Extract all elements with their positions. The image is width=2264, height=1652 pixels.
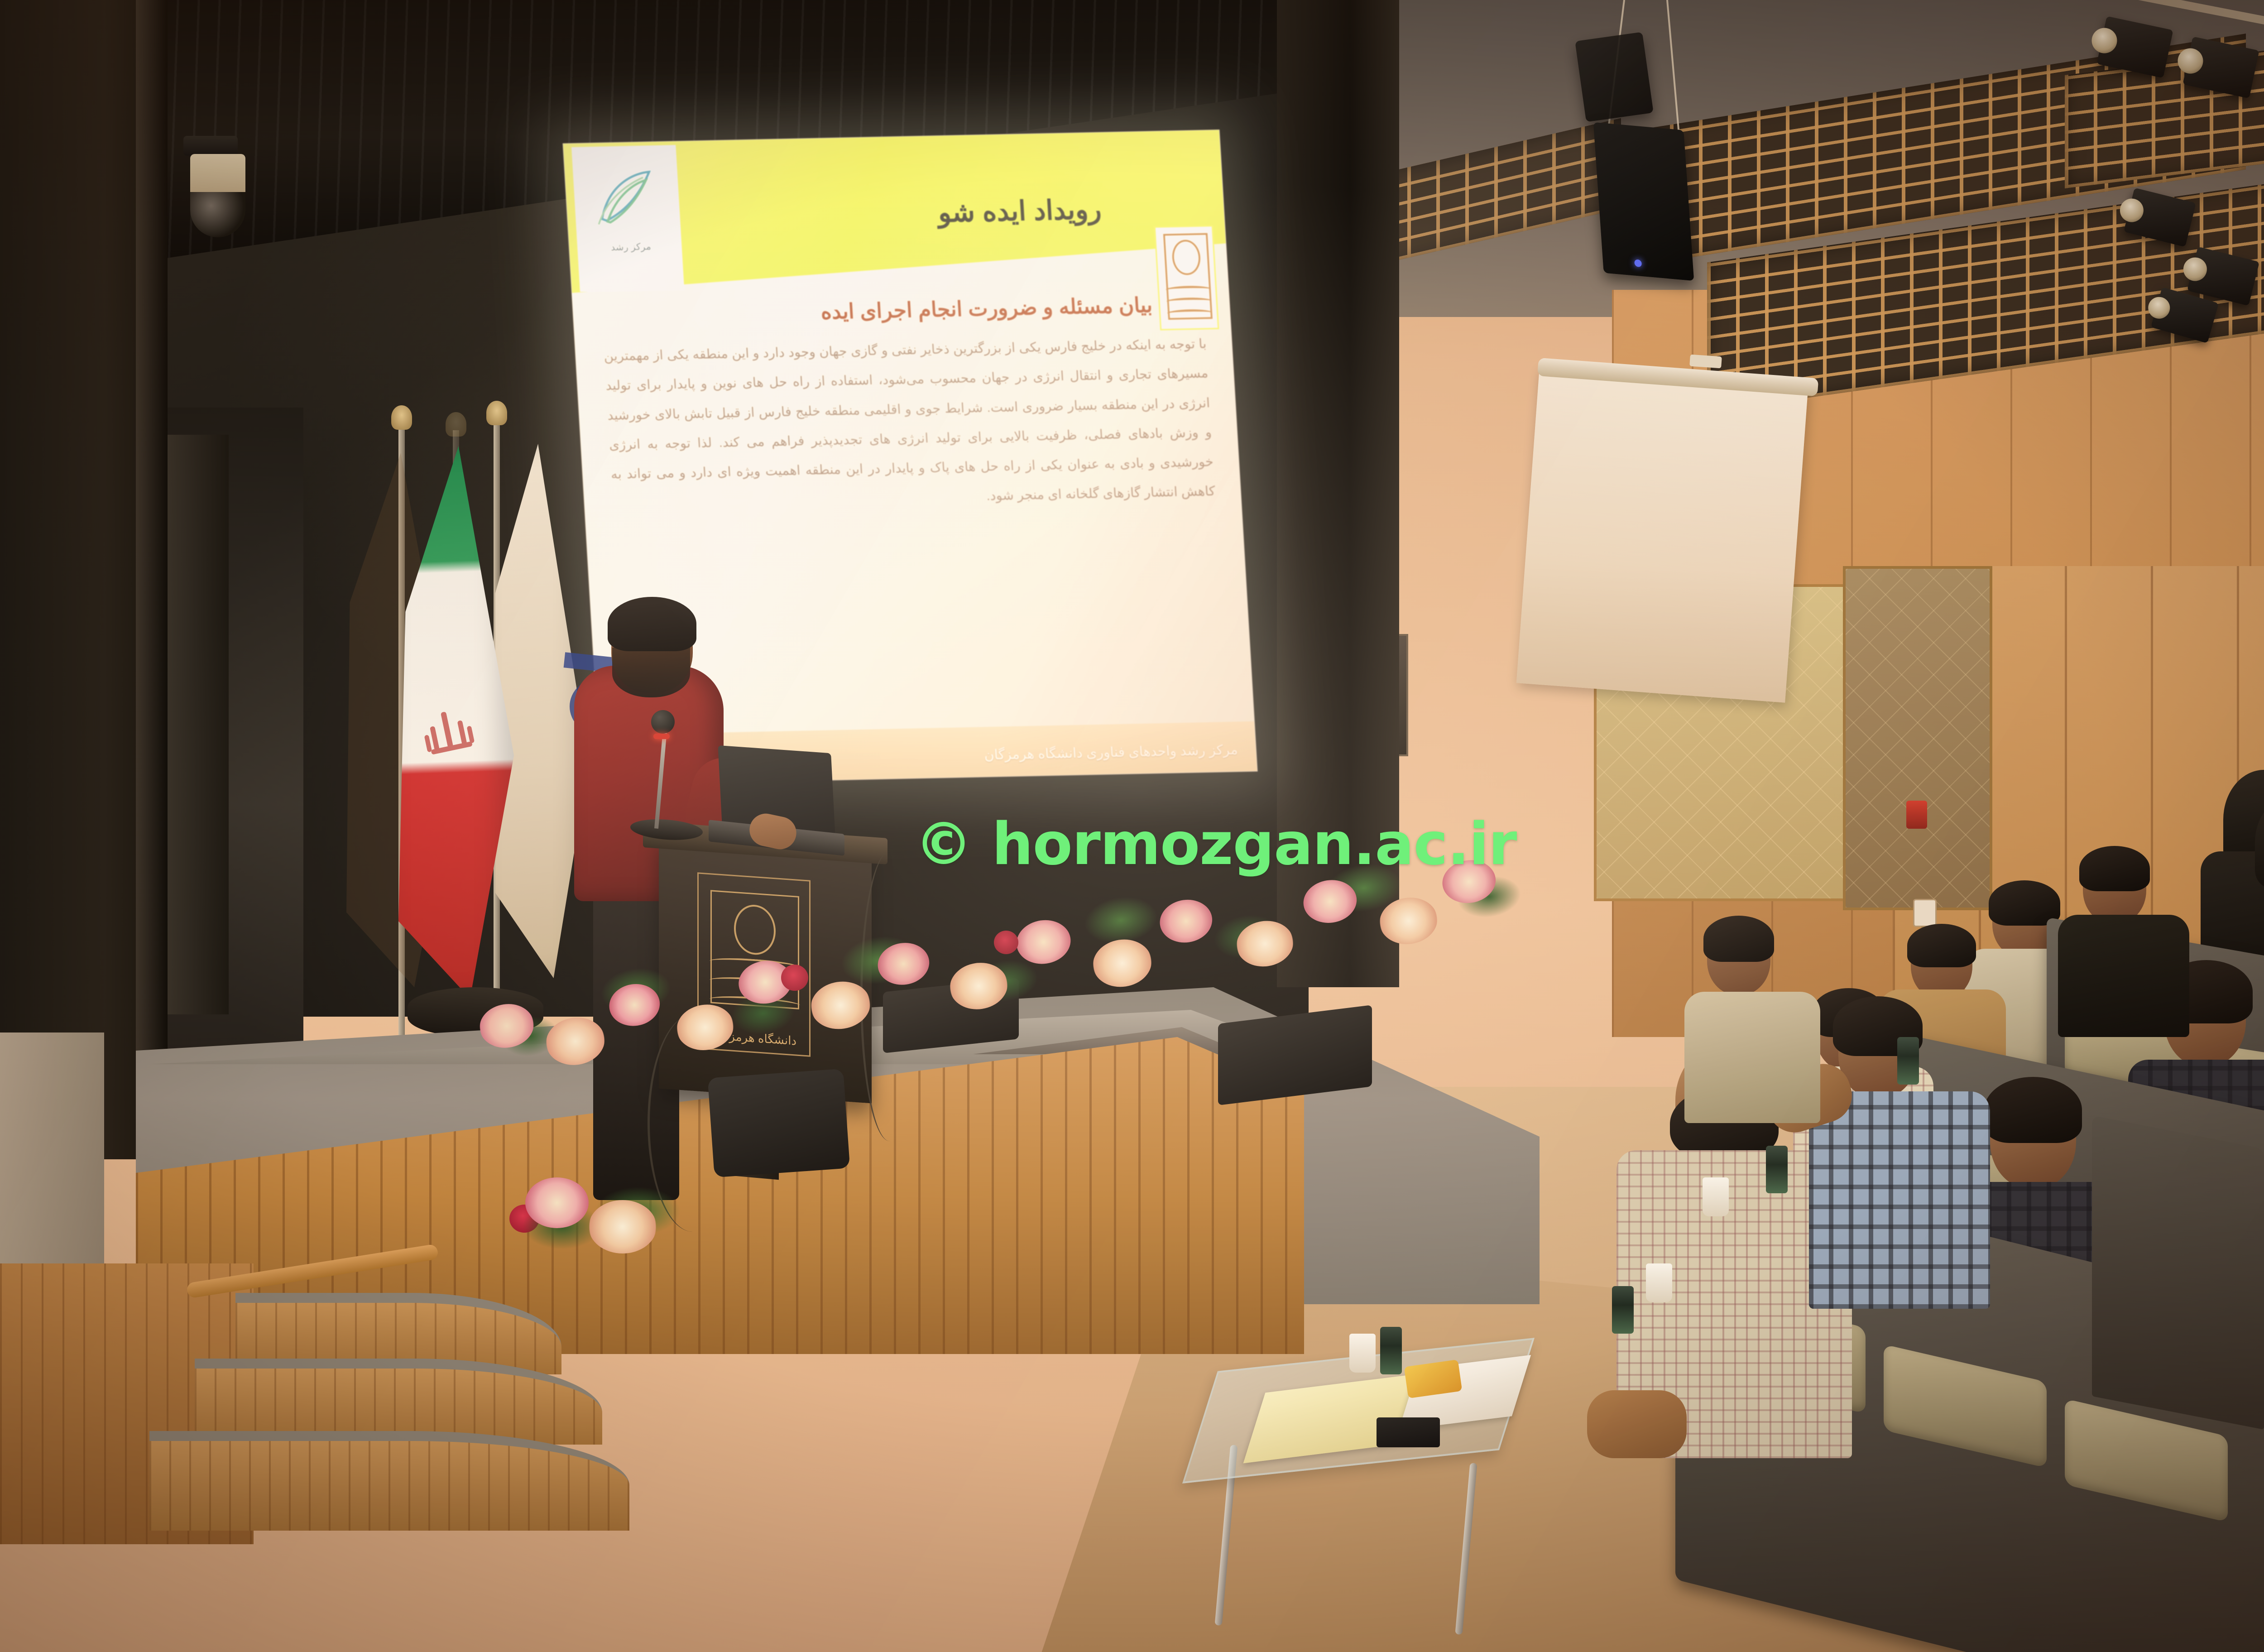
microphone-indicator	[653, 734, 670, 739]
acoustic-door-panel-2	[1843, 566, 1992, 910]
flag-finial-shadow	[446, 412, 466, 437]
microphone-icon	[651, 710, 675, 734]
speaker-led	[1634, 259, 1642, 267]
attendee-hair	[1703, 916, 1774, 962]
juice-can	[1380, 1327, 1402, 1374]
watermark-text: © hormozgan.ac.ir	[915, 811, 1516, 878]
pulldown-screen-knob	[1689, 355, 1722, 369]
auditorium-photo: مرکز رشد رویداد ایده شو بیان مسئله و ضرو…	[0, 0, 2264, 1652]
paper-cup	[1646, 1263, 1672, 1302]
rose-flower	[781, 965, 808, 991]
proscenium-left-wall	[0, 0, 149, 1159]
slide-logo-caption: مرکز رشد	[585, 240, 677, 254]
university-logo-icon	[1154, 225, 1219, 330]
presenter-hair	[608, 597, 696, 651]
paper-cup	[1349, 1334, 1376, 1373]
camera-mount	[183, 136, 238, 156]
juice-can	[1612, 1286, 1634, 1334]
juice-can	[1766, 1146, 1788, 1193]
proscenium-left-edge	[136, 0, 168, 1223]
flag-finial	[391, 405, 412, 430]
rose-flower	[994, 931, 1018, 954]
slide-title: رویداد ایده شو	[937, 193, 1103, 228]
attendee-torso	[1684, 992, 1820, 1123]
attendee-torso	[2058, 915, 2189, 1037]
iran-flag-emblem	[421, 706, 480, 756]
attendee-hair	[1984, 1077, 2082, 1143]
slide-body-text: با توجه به اینکه در خلیج فارس یکی از بزر…	[603, 329, 1216, 519]
presenter-beard	[612, 648, 690, 697]
wall-outlet	[1913, 899, 1937, 927]
ceiling-speaker	[1575, 32, 1654, 122]
ceiling-speaker	[1593, 122, 1694, 281]
lily-flower	[589, 1200, 657, 1253]
attendee-torso	[1809, 1091, 1990, 1309]
attendee-hair	[2079, 846, 2150, 891]
stage-step	[149, 1431, 629, 1531]
attendee-arm	[1587, 1390, 1687, 1458]
tissue-box	[1377, 1417, 1440, 1447]
pulldown-projection-screen	[1516, 367, 1808, 703]
incubator-logo-icon	[585, 163, 662, 237]
flag-finial	[486, 401, 507, 425]
paper-cup	[1703, 1177, 1729, 1216]
fire-alarm-icon	[1906, 801, 1927, 829]
backstage-doorway	[161, 435, 229, 1014]
slide-logo-box: مرکز رشد	[571, 145, 684, 292]
left-pillar	[0, 1032, 104, 1286]
slide-heading: بیان مسئله و ضرورت انجام اجرای ایده	[820, 293, 1153, 324]
attendee-hair	[1907, 924, 1976, 967]
lily-flower	[525, 1177, 589, 1228]
chair-backrest	[2092, 1115, 2264, 1430]
juice-can	[1897, 1037, 1919, 1085]
